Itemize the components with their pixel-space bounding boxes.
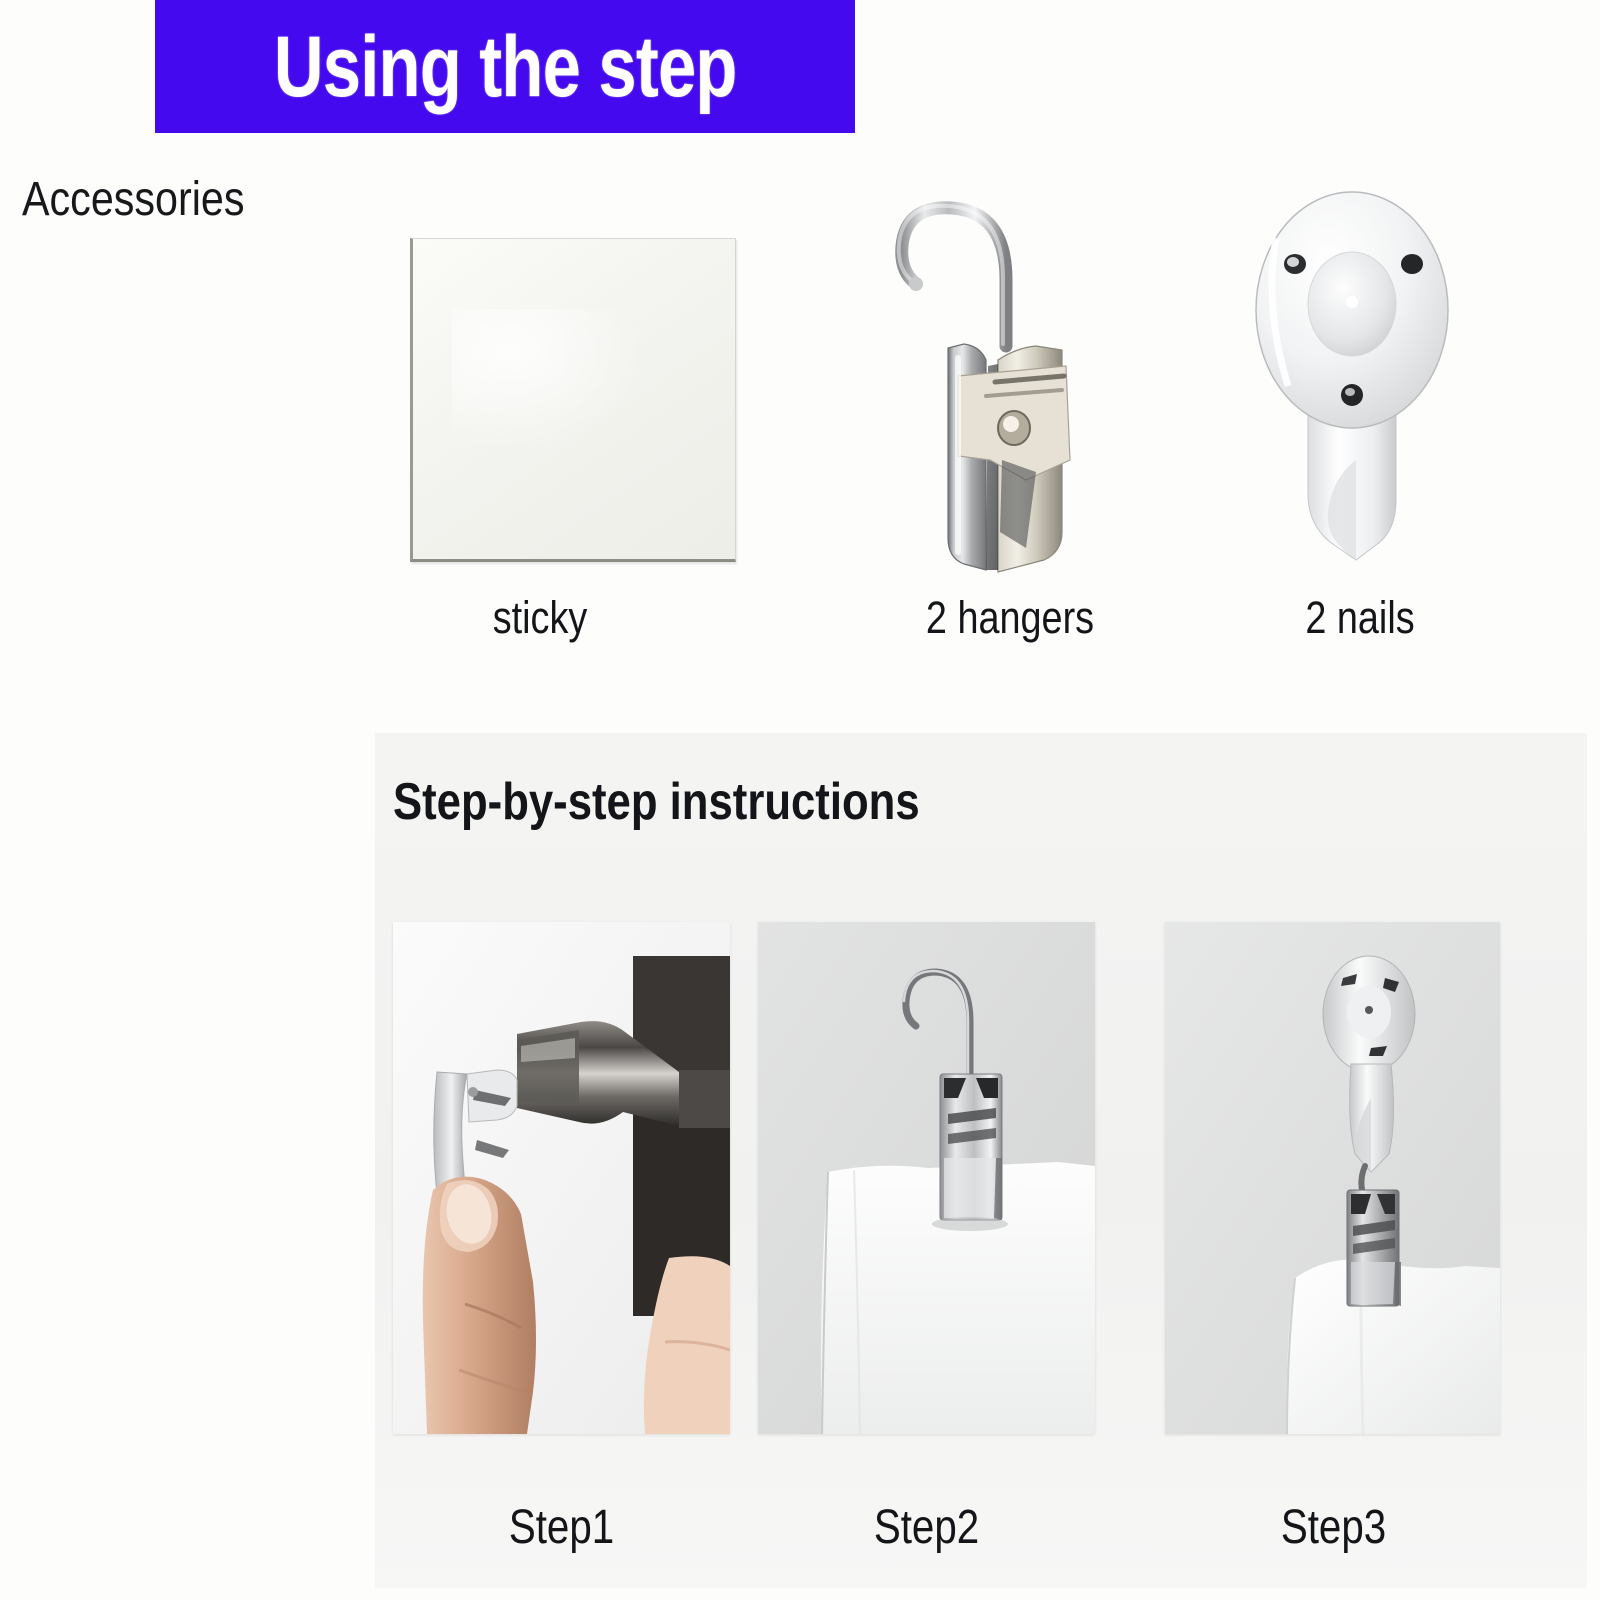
white-wall-hook-icon xyxy=(1180,160,1540,585)
adhesive-pad-icon xyxy=(360,160,720,585)
step-caption-1: Step1 xyxy=(420,1500,703,1555)
step-caption-2: Step2 xyxy=(785,1500,1068,1555)
accessory-item-nails: 2 nails xyxy=(1180,160,1540,680)
step-photo-3 xyxy=(1165,922,1500,1434)
step-caption-3: Step3 xyxy=(1192,1500,1475,1555)
step-photo-1 xyxy=(393,922,730,1434)
title-banner: Using the step xyxy=(155,0,855,133)
instructions-heading: Step-by-step instructions xyxy=(393,772,920,832)
accessory-item-hangers: 2 hangers xyxy=(830,160,1190,680)
metal-clip-hook-icon xyxy=(830,160,1190,585)
accessory-caption: 2 nails xyxy=(1209,592,1511,644)
accessory-item-sticky: sticky xyxy=(360,160,720,680)
accessories-row: sticky xyxy=(300,160,1570,680)
page-title: Using the step xyxy=(274,24,737,110)
accessory-caption: sticky xyxy=(389,592,691,644)
accessory-caption: 2 hangers xyxy=(859,592,1161,644)
step-photo-2 xyxy=(758,922,1095,1434)
accessories-section-label: Accessories xyxy=(22,172,245,227)
